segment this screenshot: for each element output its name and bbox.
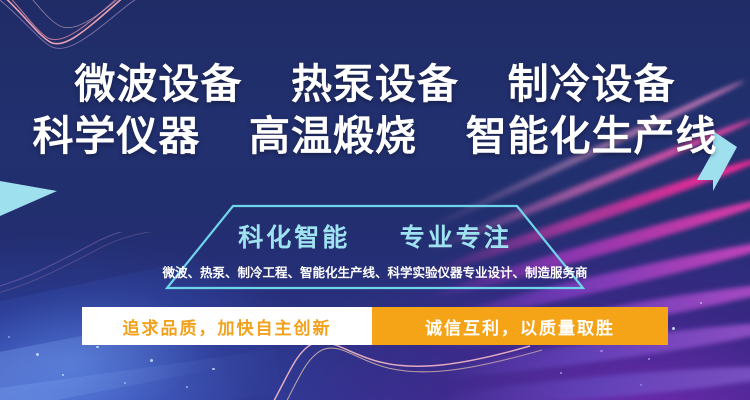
particle-speck (672, 327, 675, 330)
particle-speck (62, 374, 64, 376)
left-arrow-triangle-icon (0, 181, 57, 216)
particle-speck (648, 358, 650, 360)
particle-speck (150, 359, 153, 362)
subtitle-line: 科化智能 专业专注 (165, 218, 585, 254)
headline-line1-part2: 热泵设备 (291, 60, 459, 108)
particle-speck (212, 368, 215, 371)
particle-speck (36, 353, 39, 356)
particle-speck (96, 346, 99, 349)
slogan-bar-quality[interactable]: 追求品质，加快自主创新 (82, 307, 372, 345)
slogan-bar-row: 追求品质，加快自主创新 诚信互利，以质量取胜 (82, 307, 668, 345)
promo-banner: 微波设备 热泵设备 制冷设备 科学仪器 高温煅烧 智能化生产线 科化智能 专业专… (0, 0, 750, 400)
slogan-bar-integrity[interactable]: 诚信互利，以质量取胜 (372, 307, 668, 345)
particle-speck (8, 336, 10, 338)
headline-line2-part3: 智能化生产线 (466, 112, 718, 160)
particle-speck (124, 382, 126, 384)
subtitle-right: 专业专注 (400, 223, 512, 252)
subtitle-trapezoid-block: 科化智能 专业专注 微波、热泵、制冷工程、智能化生产线、科学实验仪器专业设计、制… (165, 204, 585, 290)
headline-line2-part1: 科学仪器 (32, 112, 200, 160)
headline-block: 微波设备 热泵设备 制冷设备 科学仪器 高温煅烧 智能化生产线 (0, 62, 750, 160)
particle-speck (186, 386, 188, 388)
particle-speck (700, 302, 702, 304)
headline-line-1: 微波设备 热泵设备 制冷设备 (0, 62, 750, 108)
headline-line2-part2: 高温煅烧 (249, 112, 417, 160)
headline-line1-part3: 制冷设备 (508, 60, 676, 108)
headline-line-2: 科学仪器 高温煅烧 智能化生产线 (0, 114, 750, 160)
subtitle-left: 科化智能 (238, 223, 350, 252)
headline-line1-part1: 微波设备 (74, 60, 242, 108)
subtitle-description: 微波、热泵、制冷工程、智能化生产线、科学实验仪器专业设计、制造服务商 (155, 262, 595, 281)
